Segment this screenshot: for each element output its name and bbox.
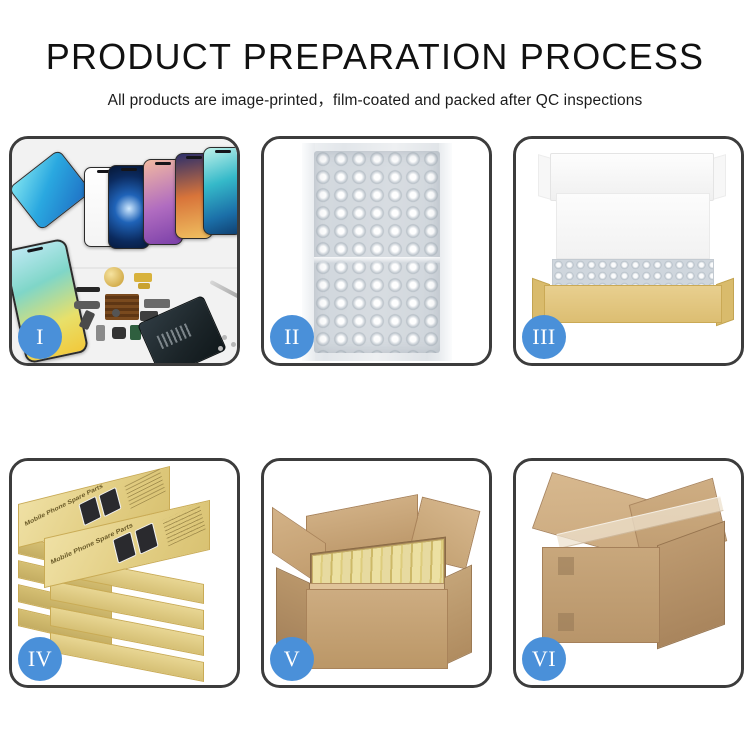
header: PRODUCT PREPARATION PROCESS All products…: [0, 0, 750, 110]
foam-sheet: [556, 193, 710, 259]
wrap-seam: [314, 257, 440, 263]
part-speaker-coil: [104, 267, 124, 287]
phone-teal: [203, 147, 237, 235]
carton-handle-notch-top: [558, 557, 574, 575]
page-title: PRODUCT PREPARATION PROCESS: [0, 0, 750, 78]
step-badge-2: II: [270, 315, 314, 359]
box-phone-art-rear-1: [78, 496, 101, 527]
mailer-front-panel: [544, 285, 722, 323]
process-step-grid: I II: [9, 136, 745, 688]
screw-1: [222, 335, 227, 340]
step-badge-3: III: [522, 315, 566, 359]
product-preparation-infographic: PRODUCT PREPARATION PROCESS All products…: [0, 0, 750, 750]
process-step-4: Mobile Phone Spare Parts Mobile Phone Sp…: [9, 458, 240, 688]
part-button: [112, 309, 120, 317]
carton-side-right: [444, 564, 472, 665]
part-flex-strip: [76, 287, 100, 292]
part-connector: [74, 301, 100, 309]
process-step-2: II: [261, 136, 492, 366]
process-step-3: III: [513, 136, 744, 366]
part-gold-bracket: [134, 273, 152, 282]
bubble-pattern: [314, 151, 440, 353]
screw-2: [231, 342, 236, 347]
part-ribbon: [144, 299, 170, 308]
wrap-edge-right: [439, 143, 452, 361]
part-grid-mesh: [105, 294, 139, 320]
screw-3: [218, 346, 223, 351]
step-badge-4: IV: [18, 637, 62, 681]
box-checklist-front: [162, 503, 205, 546]
process-step-1: I: [9, 136, 240, 366]
box-phone-art-front-2: [134, 522, 158, 555]
box-phone-art-rear-2: [98, 487, 121, 518]
part-camera-module: [112, 327, 126, 339]
step-badge-1: I: [18, 315, 62, 359]
page-subtitle: All products are image-printed，film-coat…: [0, 78, 750, 110]
process-step-5: V: [261, 458, 492, 688]
process-step-6: VI: [513, 458, 744, 688]
carton-front-panel: [306, 589, 448, 669]
step-badge-5: V: [270, 637, 314, 681]
part-sim-tray: [96, 325, 105, 341]
carton-handle-notch-bottom: [558, 613, 574, 631]
part-gold-clip: [138, 283, 150, 289]
step-badge-6: VI: [522, 637, 566, 681]
box-checklist-rear: [124, 468, 165, 509]
